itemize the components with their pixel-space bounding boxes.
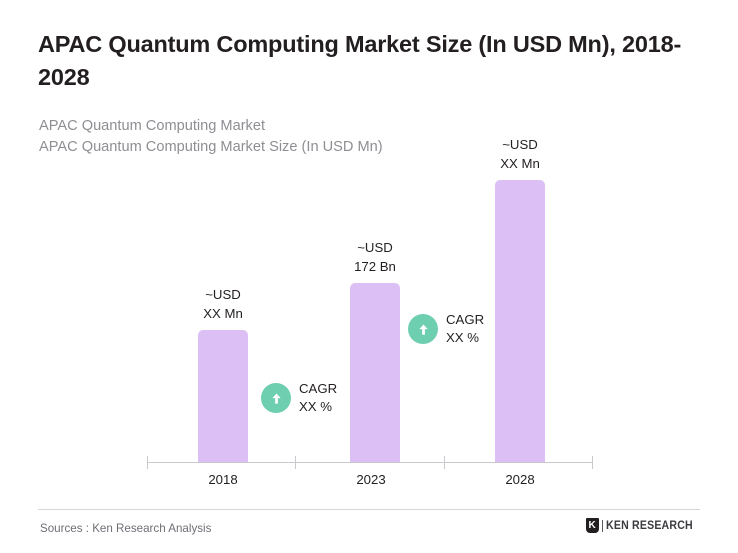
x-axis-tick-2	[444, 456, 445, 469]
bar-value-label-2023: ~USD 172 Bn	[335, 238, 415, 276]
bar-2018[interactable]	[198, 330, 248, 462]
cagr-label-2023-2028: CAGR	[446, 311, 484, 329]
x-axis-tick-1	[295, 456, 296, 469]
cagr-label-2018-2023: CAGR	[299, 380, 337, 398]
logo-wordmark: KEN RESEARCH	[606, 520, 693, 532]
cagr-value-2023-2028: XX %	[446, 329, 484, 347]
bar-2023[interactable]	[350, 283, 400, 462]
x-axis-tick-end	[592, 456, 593, 469]
bar-value-label-2028-line1: ~USD	[480, 135, 560, 154]
x-axis-line	[147, 462, 593, 463]
bar-value-label-2028: ~USD XX Mn	[480, 135, 560, 173]
x-axis-label-2018: 2018	[153, 472, 293, 487]
bar-value-label-2018-line1: ~USD	[183, 285, 263, 304]
bar-value-label-2023-line2: 172 Bn	[335, 257, 415, 276]
bar-value-label-2023-line1: ~USD	[335, 238, 415, 257]
chart-card: APAC Quantum Computing Market Size (In U…	[0, 0, 738, 553]
bar-value-label-2028-line2: XX Mn	[480, 154, 560, 173]
cagr-text-2023-2028: CAGR XX %	[446, 311, 484, 347]
arrow-up-icon	[261, 383, 291, 413]
x-axis-tick-start	[147, 456, 148, 469]
cagr-annotation-2023-2028: CAGR XX %	[408, 311, 484, 347]
shield-k-icon: K	[586, 518, 599, 533]
cagr-text-2018-2023: CAGR XX %	[299, 380, 337, 416]
bar-chart-plot: ~USD XX Mn CAGR XX % ~USD 172 Bn	[0, 0, 738, 500]
cagr-value-2018-2023: XX %	[299, 398, 337, 416]
cagr-annotation-2018-2023: CAGR XX %	[261, 380, 337, 416]
source-text: Sources : Ken Research Analysis	[40, 522, 211, 535]
bar-2028[interactable]	[495, 180, 545, 462]
bar-value-label-2018-line2: XX Mn	[183, 304, 263, 323]
footer-divider	[38, 509, 700, 510]
logo-separator	[602, 520, 603, 532]
arrow-up-icon	[408, 314, 438, 344]
x-axis-label-2028: 2028	[450, 472, 590, 487]
x-axis-label-2023: 2023	[301, 472, 441, 487]
bar-value-label-2018: ~USD XX Mn	[183, 285, 263, 323]
ken-research-logo: K KEN RESEARCH	[586, 518, 700, 533]
